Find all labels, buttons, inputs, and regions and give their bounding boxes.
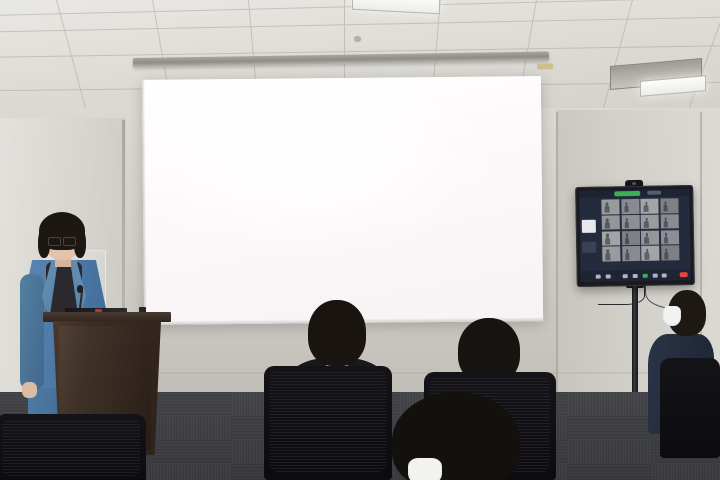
microphone-icon [77, 285, 83, 293]
participant-tile[interactable] [622, 246, 641, 261]
carpet-tile [652, 464, 720, 480]
logo-petal-icon [501, 99, 505, 103]
chair-left-foreground [0, 414, 146, 480]
presentation-slide: キューアンドエーグループ 2021年度 全社表彰 受賞者発表 25 Q&A Co… [142, 76, 543, 325]
meeting-top-bar [579, 189, 689, 198]
sakura-blossom-icon [173, 195, 193, 215]
chair-mesh-back [270, 371, 386, 472]
carpet-tile [568, 392, 652, 416]
meeting-info-badge [647, 191, 661, 195]
sakura-blossom-icon [449, 243, 473, 267]
meeting-side-panel-secondary[interactable] [582, 242, 596, 253]
camera-icon[interactable] [632, 273, 637, 278]
participant-tile[interactable] [602, 215, 621, 230]
glasses-icon [48, 237, 76, 244]
leave-label-icon[interactable] [606, 274, 611, 279]
meeting-status-badge [614, 191, 640, 196]
participant-tile[interactable] [601, 199, 620, 214]
more-options-icon[interactable] [596, 274, 601, 279]
share-screen-icon[interactable] [642, 273, 647, 278]
conference-room-scene: キューアンドエーグループ 2021年度 全社表彰 受賞者発表 25 Q&A Co… [0, 0, 720, 480]
sakura-blossom-icon [444, 273, 474, 303]
participant-tile[interactable] [660, 214, 679, 229]
face-mask [408, 458, 442, 480]
projection-screen: キューアンドエーグループ 2021年度 全社表彰 受賞者発表 25 Q&A Co… [142, 76, 543, 325]
audience-head [308, 300, 366, 366]
presenter-hand [22, 382, 37, 398]
participant-tile[interactable] [621, 215, 640, 230]
participant-tile[interactable] [661, 246, 680, 261]
presenter-left-arm [20, 274, 44, 390]
carpet-tile [568, 464, 652, 480]
ceiling-grid-line [0, 0, 1, 111]
participants-icon[interactable] [652, 273, 657, 278]
slide-top-rule [166, 112, 496, 117]
participant-tile[interactable] [641, 246, 660, 261]
audience-member-near-bottom [372, 392, 552, 480]
carpet-tile [568, 416, 652, 440]
logo-tagline-small: Q&A Corporation [465, 106, 495, 110]
ceiling-grid-line [0, 17, 720, 33]
slide-subtitle-line1: キューアンドエーグループ [199, 118, 368, 139]
sakura-blossom-icon [474, 263, 496, 285]
face-mask [663, 306, 681, 326]
ceiling-grid-line [601, 0, 633, 114]
end-call-button[interactable] [680, 272, 688, 277]
tv-screen [579, 189, 691, 282]
meeting-side-panel[interactable] [582, 220, 597, 233]
wall-baseboard [120, 372, 720, 374]
sakura-blossom-icon [366, 274, 386, 294]
slide-main-title: 受賞者発表 [205, 165, 395, 218]
ceiling-grid-line [56, 0, 88, 114]
logo-anniversary-number: 25 [509, 99, 529, 122]
video-conference-monitor[interactable] [575, 185, 695, 287]
podium-top-surface [43, 312, 171, 322]
slide-footer-right: Q&A 2021 [515, 308, 533, 312]
participant-tile[interactable] [621, 230, 640, 245]
participant-tile[interactable] [621, 199, 640, 214]
mic-icon[interactable] [622, 274, 627, 279]
carpet-tile [568, 440, 652, 464]
logo-petal-icon [495, 96, 500, 101]
logo-tagline-main: with PASSION! [465, 112, 507, 118]
chair-mesh-back [2, 419, 140, 476]
sakura-blossom-icon [431, 215, 457, 241]
participant-tile[interactable] [661, 230, 680, 245]
sakura-blossom-icon [410, 287, 426, 303]
chair-far-right [660, 358, 720, 458]
wall-seam-right [556, 112, 558, 402]
chat-icon[interactable] [662, 273, 667, 278]
meeting-toolbar[interactable] [581, 269, 691, 282]
roller-end-cap-icon [537, 63, 553, 69]
participant-tile[interactable] [641, 230, 660, 245]
webcam-lens-icon [632, 182, 635, 185]
smoke-detector-icon [354, 36, 361, 41]
participant-tile[interactable] [602, 231, 621, 246]
participant-tile[interactable] [641, 214, 660, 229]
participant-tile[interactable] [602, 247, 621, 262]
carpet-tile [148, 464, 232, 480]
participant-tile[interactable] [660, 198, 679, 213]
sakura-blossom-icon [390, 253, 422, 285]
company-anniversary-logo: 25 Q&A Corporation with PASSION! [465, 96, 531, 131]
participant-grid [601, 198, 679, 261]
participant-tile[interactable] [640, 199, 659, 214]
slide-subtitle-line2: 2021年度 全社表彰 [199, 138, 318, 158]
